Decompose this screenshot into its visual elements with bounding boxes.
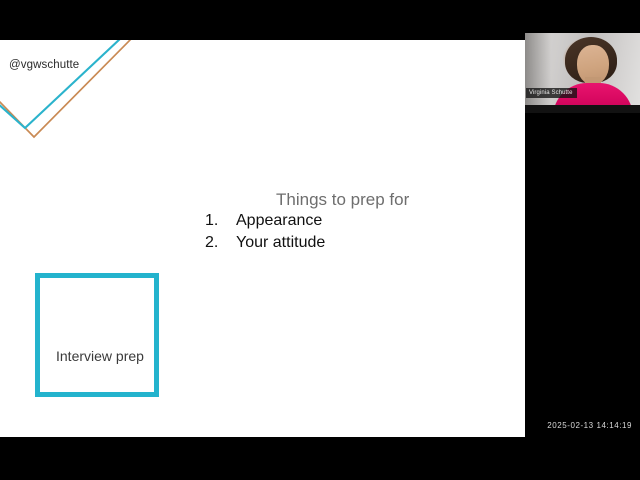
video-wall-shadow (525, 33, 551, 113)
list-item: 2. Your attitude (205, 234, 505, 256)
slide-heading: Things to prep for (276, 190, 409, 210)
chevron-lines-icon (0, 40, 200, 160)
shared-slide: @vgwschutte Things to prep for 1. Appear… (0, 40, 525, 437)
list-item-number: 2. (205, 234, 236, 252)
presenter-handle: @vgwschutte (9, 59, 79, 71)
interview-prep-callout-box: Interview prep (35, 273, 159, 397)
list-item: 1. Appearance (205, 212, 505, 234)
slide-list: 1. Appearance 2. Your attitude (205, 212, 505, 256)
video-call-screen: @vgwschutte Things to prep for 1. Appear… (0, 0, 640, 480)
list-item-text: Appearance (236, 212, 322, 230)
list-item-text: Your attitude (236, 234, 325, 252)
participant-video-feed (525, 33, 640, 113)
list-item-number: 1. (205, 212, 236, 230)
recording-timestamp: 2025-02-13 14:14:19 (547, 421, 632, 430)
interview-prep-label: Interview prep (56, 348, 144, 364)
participant-name-label: Virginia Schutte (526, 88, 577, 98)
participant-video-tile[interactable]: Virginia Schutte (525, 33, 640, 113)
video-letterbox-bar (525, 105, 640, 113)
